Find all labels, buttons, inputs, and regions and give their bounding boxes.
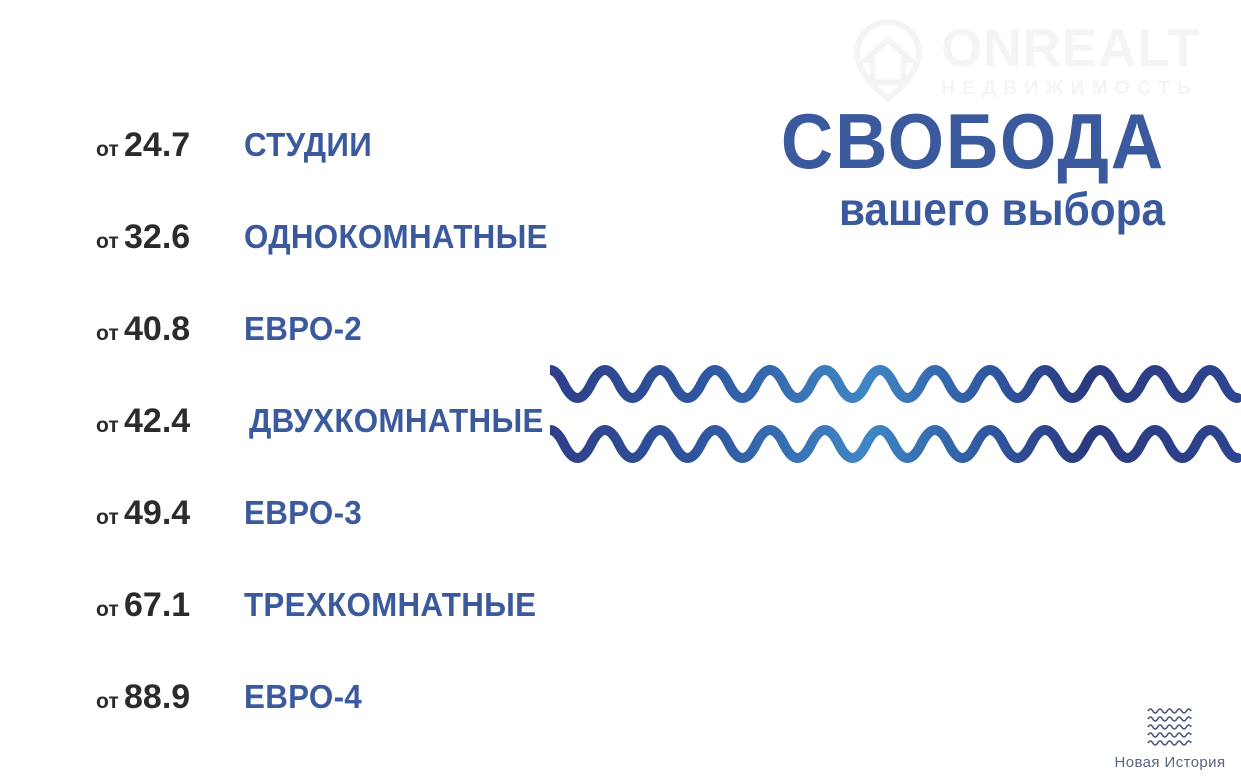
- price-label: ТРЕХКОМНАТНЫЕ: [244, 588, 536, 621]
- price-amount: от42.4: [96, 404, 244, 438]
- price-prefix: от: [96, 322, 119, 345]
- price-amount: от32.6: [96, 220, 244, 254]
- watermark-brand: ONREALT: [941, 22, 1200, 75]
- price-prefix: от: [96, 598, 119, 621]
- price-row: от49.4 ЕВРО-3: [96, 496, 566, 588]
- price-amount: от49.4: [96, 496, 244, 530]
- price-value: 40.8: [124, 310, 190, 348]
- headline-block: СВОБОДА вашего выбора: [752, 104, 1165, 232]
- price-prefix: от: [96, 414, 119, 437]
- price-amount: от67.1: [96, 588, 244, 622]
- brand-logo-name: Новая История: [1110, 754, 1230, 771]
- price-label: ЕВРО-4: [244, 680, 362, 713]
- price-amount: от88.9: [96, 680, 244, 714]
- wave-divider-icon: [550, 362, 1241, 474]
- price-value: 67.1: [124, 586, 190, 624]
- watermark-text-block: ONREALT НЕДВИЖИМОСТЬ: [941, 22, 1200, 98]
- price-value: 32.6: [124, 218, 190, 256]
- price-label: ЕВРО-2: [244, 312, 362, 345]
- price-prefix: от: [96, 230, 119, 253]
- price-row: от88.9 ЕВРО-4: [96, 680, 566, 772]
- price-value: 88.9: [124, 678, 190, 716]
- price-label: ЕВРО-3: [244, 496, 362, 529]
- price-prefix: от: [96, 506, 119, 529]
- price-amount: от40.8: [96, 312, 244, 346]
- price-row: от32.6 ОДНОКОМНАТНЫЕ: [96, 220, 566, 312]
- price-row: от40.8 ЕВРО-2: [96, 312, 566, 404]
- price-value: 49.4: [124, 494, 190, 532]
- price-prefix: от: [96, 138, 119, 161]
- price-value: 42.4: [124, 402, 190, 440]
- price-value: 24.7: [124, 126, 190, 164]
- price-row: от67.1 ТРЕХКОМНАТНЫЕ: [96, 588, 566, 680]
- price-row: от24.7 СТУДИИ: [96, 128, 566, 220]
- price-row: от42.4 ДВУХКОМНАТНЫЕ: [96, 404, 566, 496]
- watermark: ONREALT НЕДВИЖИМОСТЬ: [845, 14, 1235, 106]
- headline-sub: вашего выбора: [785, 186, 1165, 232]
- headline-main: СВОБОДА: [781, 104, 1165, 179]
- poster-canvas: ONREALT НЕДВИЖИМОСТЬ СВОБОДА вашего выбо…: [0, 0, 1241, 777]
- price-amount: от24.7: [96, 128, 244, 162]
- map-pin-house-icon: [845, 17, 931, 103]
- price-label: СТУДИИ: [244, 128, 372, 161]
- price-label: ДВУХКОМНАТНЫЕ: [249, 404, 544, 437]
- price-prefix: от: [96, 690, 119, 713]
- price-label: ОДНОКОМНАТНЫЕ: [244, 220, 548, 253]
- brand-logo: Новая История: [1110, 706, 1230, 771]
- wavy-lines-logo-icon: [1146, 706, 1194, 750]
- watermark-subtitle: НЕДВИЖИМОСТЬ: [941, 79, 1200, 98]
- price-list: от24.7 СТУДИИ от32.6 ОДНОКОМНАТНЫЕ от40.…: [96, 128, 566, 772]
